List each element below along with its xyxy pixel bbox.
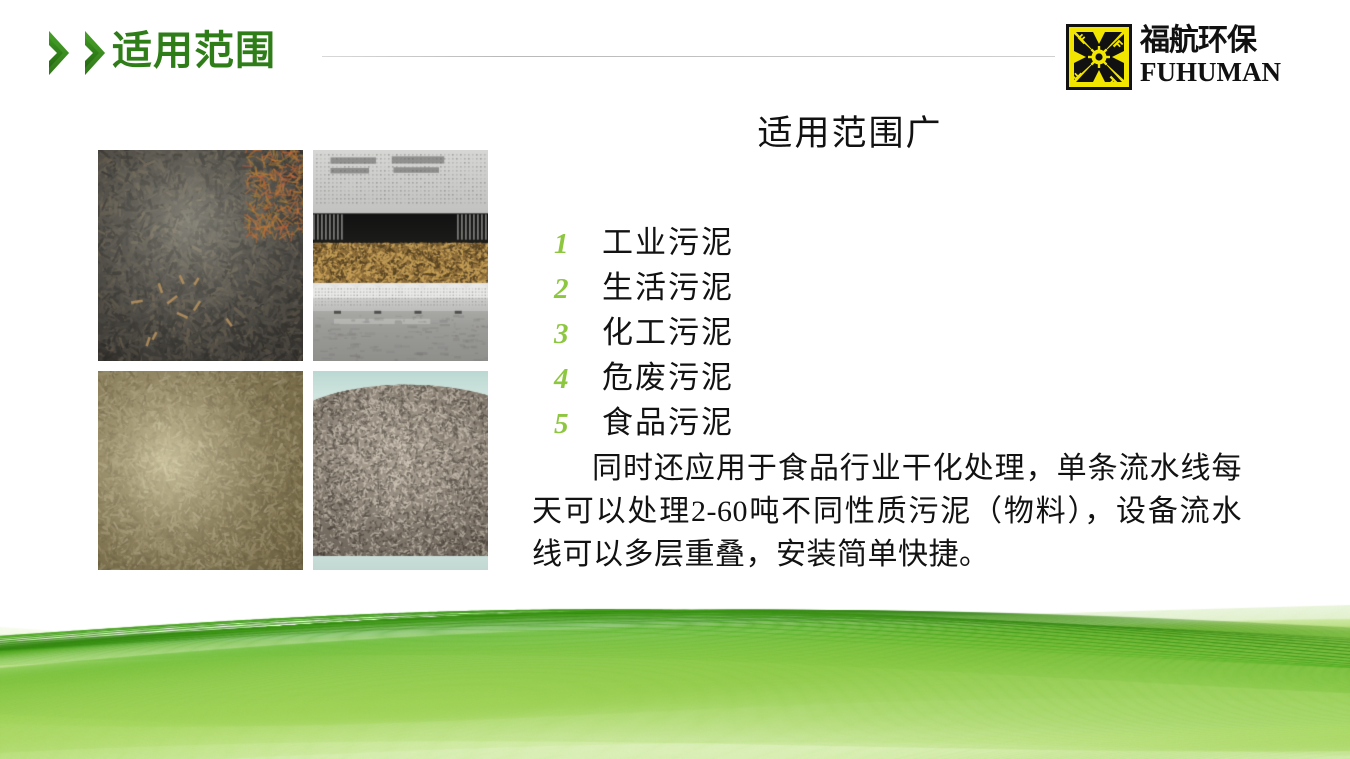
brand-name-cn: 福航环保 [1140, 24, 1280, 58]
photo-dark-sludge-pellets [98, 150, 303, 361]
list-item-number: 5 [540, 408, 602, 441]
photo-tan-dried-pellets [98, 371, 303, 570]
description-paragraph: 同时还应用于食品行业干化处理，单条流水线每天可以处理2-60吨不同性质污泥（物料… [532, 447, 1242, 576]
list-item-number: 3 [540, 318, 602, 351]
list-item: 3 化工污泥 [540, 307, 734, 352]
brand-logo: F F F F [1066, 24, 1278, 90]
list-item-number: 2 [540, 273, 602, 306]
photo-grid [98, 150, 488, 570]
list-item-label: 危废污泥 [602, 352, 734, 397]
list-item-number: 4 [540, 363, 602, 396]
list-item: 5 食品污泥 [540, 397, 734, 442]
photo-grey-pellet-heap [313, 371, 488, 570]
page-title: 适用范围 [112, 25, 276, 77]
list-item-label: 化工污泥 [602, 307, 734, 352]
list-item-label: 生活污泥 [602, 262, 734, 307]
main-content: 适用范围广 1 工业污泥 2 生活污泥 3 化工污泥 4 危废污泥 5 食品污泥 [520, 112, 1310, 156]
photo-dryer-belt-interior [313, 150, 488, 361]
green-ribbon-wave-graphic [0, 559, 1350, 759]
list-item-number: 1 [540, 228, 602, 261]
list-item: 1 工业污泥 [540, 217, 734, 262]
list-item: 2 生活污泥 [540, 262, 734, 307]
list-item-label: 食品污泥 [602, 397, 734, 442]
slide-root: 适用范围 F F F F [0, 0, 1350, 759]
header-divider [322, 56, 1055, 57]
applications-list: 1 工业污泥 2 生活污泥 3 化工污泥 4 危废污泥 5 食品污泥 [540, 217, 734, 442]
list-item-label: 工业污泥 [602, 217, 734, 262]
brand-name-en: FUHUMAN [1140, 58, 1280, 87]
brand-logo-text: 福航环保 FUHUMAN [1140, 24, 1280, 87]
list-item: 4 危废污泥 [540, 352, 734, 397]
chevron-right-icon-1 [47, 30, 87, 76]
fuhuman-pinwheel-logo-icon: F F F F [1066, 24, 1132, 90]
content-heading: 适用范围广 [520, 112, 1180, 156]
